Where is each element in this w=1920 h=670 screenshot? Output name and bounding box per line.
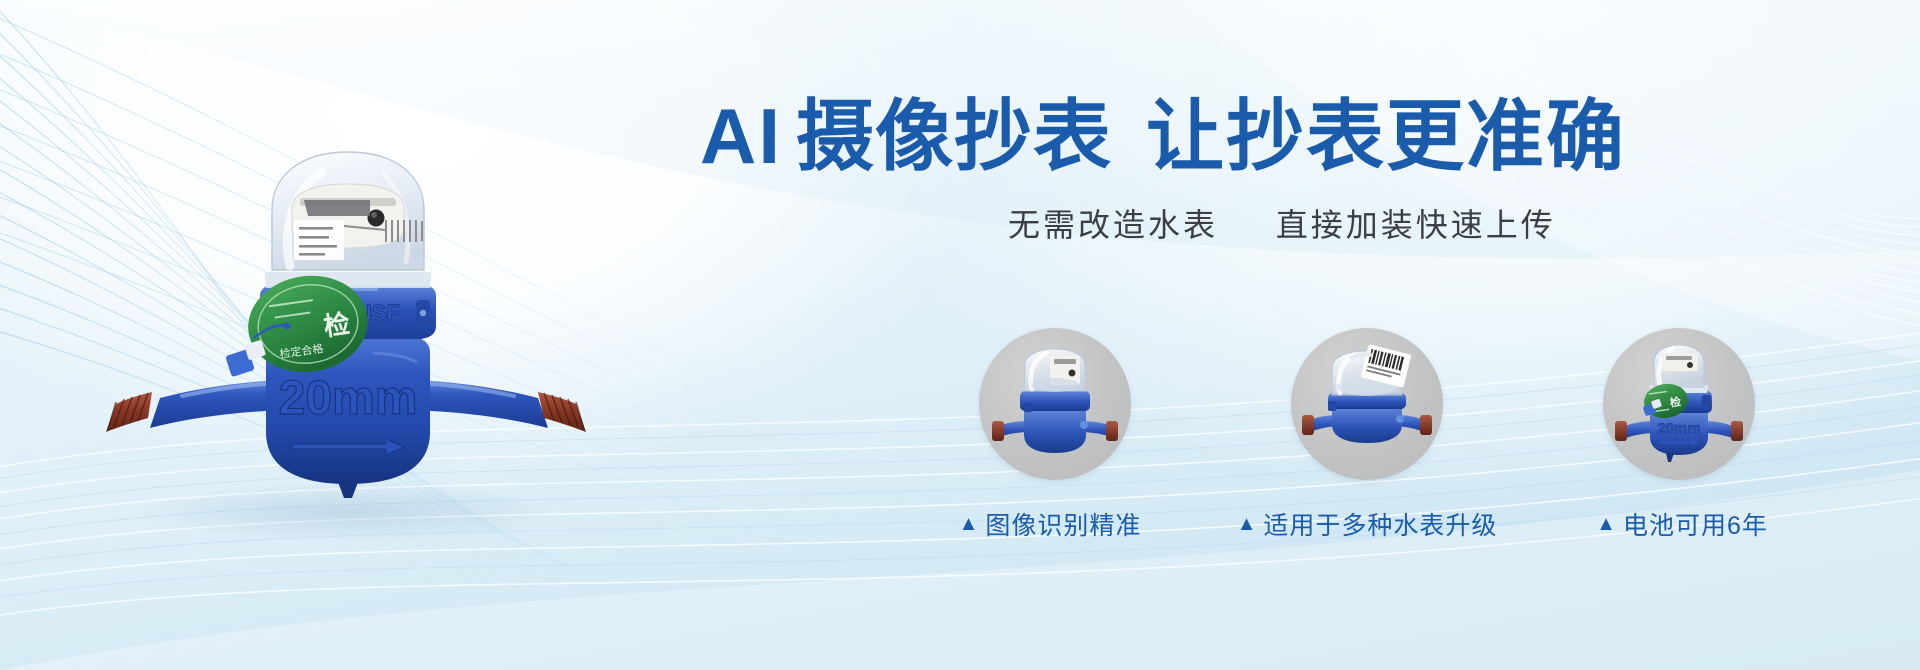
thumb-meter-2-illustration [1292, 329, 1442, 479]
triangle-bullet-icon: ▲ [1237, 514, 1258, 534]
copy-block: AI摄像抄表让抄表更准确 无需改造水表 直接加装快速上传 [700, 96, 1860, 246]
hero-product-image: 20mm NSF [86, 80, 606, 550]
page-subtitle: 无需改造水表 直接加装快速上传 [1008, 200, 1860, 246]
feature-item-1[interactable]: ▲ 图像识别精准 [960, 328, 1150, 578]
feature-label-3: 电池可用6年 [1623, 506, 1768, 542]
feature-item-2[interactable]: ▲ 适用于多种水表升级 [1272, 328, 1462, 578]
feature-item-3[interactable]: 20mm 检 [1584, 328, 1774, 578]
meter-thumb-image-recognition [979, 328, 1131, 480]
meter-thumb-multi-meter-upgrade [1291, 328, 1443, 480]
spec-label [294, 220, 344, 260]
subtitle-left: 无需改造水表 [1008, 207, 1218, 243]
triangle-bullet-icon: ▲ [959, 514, 980, 534]
left-thread [106, 392, 152, 432]
feature-label-2: 适用于多种水表升级 [1263, 506, 1497, 542]
feature-caption-3: ▲ 电池可用6年 [1596, 506, 1768, 542]
headline-tail: 让抄表更准确 [1146, 92, 1626, 180]
feature-thumbnail-row: ▲ 图像识别精准 [960, 328, 1860, 578]
thumb-meter-3-illustration: 20mm 检 [1604, 329, 1754, 479]
headline-main: 摄像抄表 [796, 92, 1112, 180]
water-meter-illustration: 20mm NSF [86, 80, 606, 550]
svg-text:检: 检 [1669, 394, 1682, 409]
thumb-meter-1-illustration [980, 329, 1130, 479]
body-size-marking: 20mm [279, 372, 418, 425]
page-title: AI摄像抄表让抄表更准确 [700, 96, 1860, 178]
feature-label-1: 图像识别精准 [985, 506, 1141, 542]
subtitle-right: 直接加装快速上传 [1276, 207, 1556, 243]
seal-label: 检 [322, 308, 352, 341]
feature-caption-2: ▲ 适用于多种水表升级 [1237, 506, 1498, 542]
thumb3-size-marking: 20mm [1657, 420, 1700, 437]
feature-caption-1: ▲ 图像识别精准 [959, 506, 1142, 542]
headline-lead: AI [700, 92, 782, 180]
meter-thumb-battery-6-years: 20mm 检 [1603, 328, 1755, 480]
promo-banner: 20mm NSF [0, 0, 1920, 670]
triangle-bullet-icon: ▲ [1596, 514, 1617, 534]
camera-lens-icon [368, 210, 385, 227]
